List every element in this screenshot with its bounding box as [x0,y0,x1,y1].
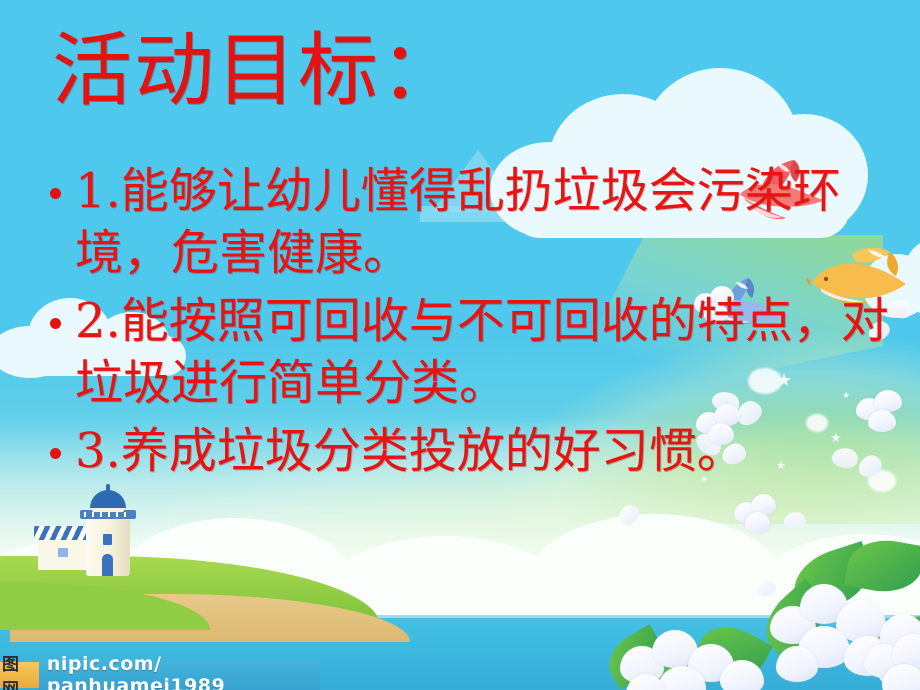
bullet-dot-icon [50,318,61,329]
bullet-dot-icon [50,448,61,459]
list-item: 3.养成垃圾分类投放的好习惯。 [50,420,910,482]
presentation-slide: ★ ★ ★ ★ ★ ★ [0,0,920,690]
list-item: 1.能够让幼儿懂得乱扔垃圾会污染环境，危害健康。 [50,160,910,284]
bullet-text: 2.能按照可回收与不可回收的特点，对垃圾进行简单分类。 [75,290,910,414]
watermark-url: nipic.com/ panhuamei1989 [39,653,320,690]
blossom-single [734,494,782,534]
list-item: 2.能按照可回收与不可回收的特点，对垃圾进行简单分类。 [50,290,910,414]
lighthouse-icon [44,498,164,576]
page-title: 活动目标： [52,28,462,114]
watermark: 图网 nipic.com/ panhuamei1989 [0,660,320,690]
bullet-text: 1.能够让幼儿懂得乱扔垃圾会污染环境，危害健康。 [75,160,910,284]
blossom-cluster [620,628,770,690]
blossom-cluster [864,634,920,690]
bullet-list: 1.能够让幼儿懂得乱扔垃圾会污染环境，危害健康。 2.能按照可回收与不可回收的特… [50,160,910,488]
watermark-band: nipic.com/ panhuamei1989 [39,660,320,690]
bullet-dot-icon [50,188,61,199]
nipic-logo: 图网 [0,662,39,688]
bullet-text: 3.养成垃圾分类投放的好习惯。 [75,420,910,482]
